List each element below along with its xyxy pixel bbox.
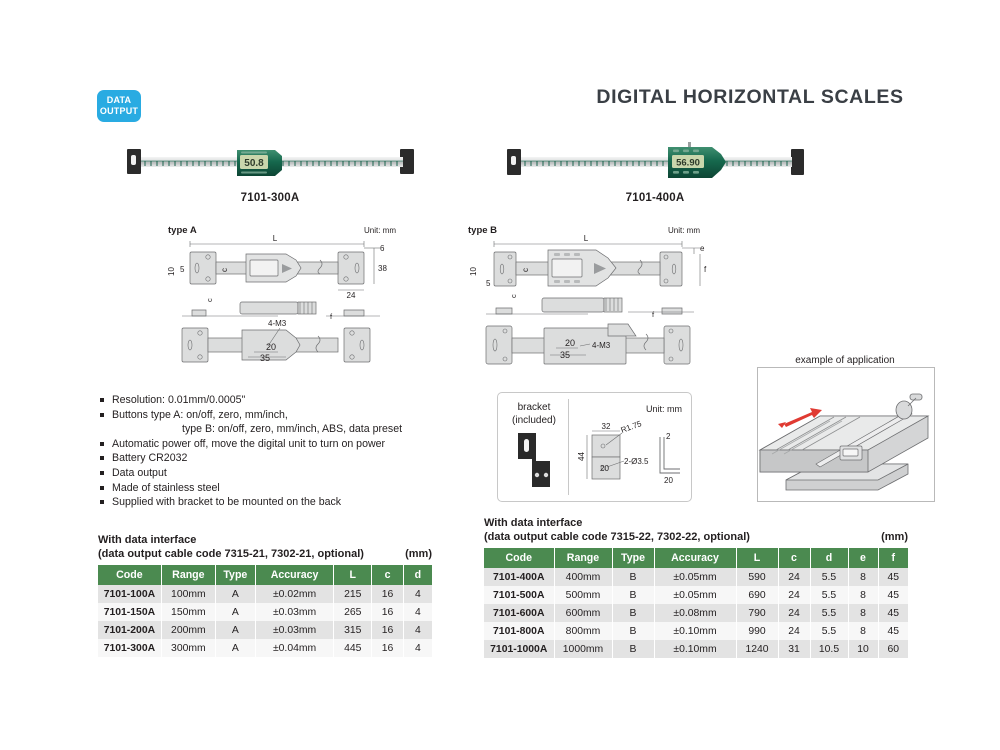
cell-l: 990	[736, 622, 778, 640]
cell-d: 4	[403, 639, 432, 657]
table-b-col-f: f	[878, 548, 908, 568]
cell-accuracy: ±0.05mm	[654, 586, 736, 604]
feature-item: Resolution: 0.01mm/0.0005"	[98, 393, 438, 408]
product-image-300a: 50.8 7101-300A	[125, 140, 415, 210]
bracket-label-line1: bracket	[502, 402, 566, 415]
table-a-col-range: Range	[161, 565, 215, 585]
table-a-unit-tag: (mm)	[405, 547, 432, 561]
table-b-col-d: d	[810, 548, 848, 568]
cell-range: 300mm	[161, 639, 215, 657]
table-row: 7101-500A 500mm B ±0.05mm 690 24 5.5 8 4…	[484, 586, 908, 604]
cell-e: 10	[848, 640, 878, 658]
table-a-col-code: Code	[98, 565, 161, 585]
cell-accuracy: ±0.04mm	[255, 639, 334, 657]
table-row: 7101-150A 150mm A ±0.03mm 265 16 4	[98, 603, 432, 621]
svg-text:56.90: 56.90	[676, 158, 700, 169]
table-a-heading-2: (data output cable code 7315-21, 7302-21…	[98, 548, 364, 560]
cell-range: 100mm	[161, 585, 215, 603]
svg-text:20: 20	[266, 342, 276, 352]
cell-f: 45	[878, 604, 908, 622]
table-row: 7101-300A 300mm A ±0.04mm 445 16 4	[98, 639, 432, 657]
cell-type: B	[612, 586, 654, 604]
cell-code: 7101-600A	[484, 604, 554, 622]
bracket-photo	[512, 431, 556, 489]
cell-l: 215	[334, 585, 372, 603]
svg-text:c: c	[521, 268, 530, 272]
cell-d: 4	[403, 603, 432, 621]
cell-e: 8	[848, 622, 878, 640]
svg-text:c: c	[205, 298, 214, 302]
table-row: 7101-600A 600mm B ±0.08mm 790 24 5.5 8 4…	[484, 604, 908, 622]
svg-text:6: 6	[380, 244, 385, 253]
table-b-header-row: Code Range Type Accuracy L c d e f	[484, 548, 908, 568]
svg-text:38: 38	[378, 264, 387, 273]
type-b-label: type B	[468, 225, 497, 236]
table-a-col-c: c	[372, 565, 404, 585]
cell-f: 60	[878, 640, 908, 658]
svg-text:f: f	[704, 265, 707, 274]
application-illustration	[758, 368, 934, 501]
badge-line-1: DATA	[107, 95, 131, 106]
catalog-page: DATA OUTPUT DIGITAL HORIZONTAL SCALES	[0, 0, 1000, 750]
table-b-col-code: Code	[484, 548, 554, 568]
application-panel	[757, 367, 935, 502]
table-b-heading-2-row: (data output cable code 7315-22, 7302-22…	[484, 530, 908, 544]
svg-text:Unit: mm: Unit: mm	[668, 226, 700, 235]
svg-text:4-M3: 4-M3	[268, 319, 287, 328]
type-a-label: type A	[168, 225, 197, 236]
feature-item: Buttons type A: on/off, zero, mm/inch,	[98, 408, 438, 423]
cell-range: 500mm	[554, 586, 612, 604]
svg-text:L: L	[584, 234, 589, 243]
feature-item: Data output	[98, 466, 438, 481]
cell-e: 8	[848, 604, 878, 622]
bracket-dim-holes: 2-Ø3.5	[624, 457, 649, 466]
svg-text:5: 5	[180, 265, 185, 274]
cell-f: 45	[878, 622, 908, 640]
table-row: 7101-400A 400mm B ±0.05mm 590 24 5.5 8 4…	[484, 568, 908, 586]
cell-d: 5.5	[810, 622, 848, 640]
table-b-col-e: e	[848, 548, 878, 568]
table-a-col-accuracy: Accuracy	[255, 565, 334, 585]
cell-c: 31	[778, 640, 810, 658]
cell-c: 16	[372, 621, 404, 639]
svg-text:35: 35	[560, 350, 570, 360]
table-row: 7101-100A 100mm A ±0.02mm 215 16 4	[98, 585, 432, 603]
cell-code: 7101-400A	[484, 568, 554, 586]
cell-range: 400mm	[554, 568, 612, 586]
cell-c: 24	[778, 604, 810, 622]
svg-text:10: 10	[469, 267, 478, 276]
table-type-b: Code Range Type Accuracy L c d e f 7101-…	[484, 548, 908, 658]
cell-code: 7101-800A	[484, 622, 554, 640]
bracket-label-line2: (included)	[502, 415, 566, 428]
badge-line-2: OUTPUT	[100, 106, 138, 117]
bracket-panel: bracket (included) Unit: mm	[497, 392, 692, 502]
cell-code: 7101-1000A	[484, 640, 554, 658]
table-type-a-wrapper: With data interface (data output cable c…	[98, 533, 432, 657]
table-b-col-l: L	[736, 548, 778, 568]
cell-code: 7101-300A	[98, 639, 161, 657]
cell-range: 600mm	[554, 604, 612, 622]
drawing-type-a: type A Unit: mm L	[168, 224, 418, 374]
cell-l: 1240	[736, 640, 778, 658]
application-caption: example of application	[757, 355, 933, 366]
svg-text:4-M3: 4-M3	[592, 341, 611, 350]
svg-text:24: 24	[347, 291, 356, 300]
cell-l: 315	[334, 621, 372, 639]
table-row: 7101-200A 200mm A ±0.03mm 315 16 4	[98, 621, 432, 639]
cell-c: 16	[372, 639, 404, 657]
svg-text:c: c	[220, 268, 229, 272]
cell-type: B	[612, 604, 654, 622]
table-b-col-range: Range	[554, 548, 612, 568]
cell-d: 4	[403, 585, 432, 603]
bracket-dimension-drawing: 32 44 R1.75 2-Ø3.5 20 2 20	[576, 419, 688, 497]
cell-type: B	[612, 640, 654, 658]
cell-c: 16	[372, 585, 404, 603]
table-b-col-accuracy: Accuracy	[654, 548, 736, 568]
table-a-heading-1: With data interface	[98, 533, 432, 547]
bracket-label: bracket (included)	[502, 402, 566, 427]
feature-sub-item: type B: on/off, zero, mm/inch, ABS, data…	[98, 422, 438, 437]
cell-d: 5.5	[810, 604, 848, 622]
feature-item: Made of stainless steel	[98, 481, 438, 496]
bracket-dim-44: 44	[577, 452, 586, 461]
svg-text:L: L	[273, 234, 278, 243]
cell-range: 800mm	[554, 622, 612, 640]
feature-item: Battery CR2032	[98, 451, 438, 466]
cell-type: A	[215, 639, 255, 657]
drawing-type-b: type B Unit: mm L	[468, 224, 723, 374]
cell-accuracy: ±0.08mm	[654, 604, 736, 622]
cell-code: 7101-200A	[98, 621, 161, 639]
cell-d: 10.5	[810, 640, 848, 658]
cell-code: 7101-500A	[484, 586, 554, 604]
cell-type: A	[215, 585, 255, 603]
table-a-col-l: L	[334, 565, 372, 585]
scale-illustration-b: 56.90	[505, 140, 805, 190]
page-title: DIGITAL HORIZONTAL SCALES	[560, 86, 940, 109]
svg-text:10: 10	[168, 267, 176, 276]
cell-accuracy: ±0.03mm	[255, 603, 334, 621]
feature-list: Resolution: 0.01mm/0.0005" Buttons type …	[98, 393, 438, 510]
table-type-a: Code Range Type Accuracy L c d 7101-100A…	[98, 565, 432, 657]
table-b-heading-1: With data interface	[484, 516, 908, 530]
product-caption-400a: 7101-400A	[505, 192, 805, 204]
cell-c: 16	[372, 603, 404, 621]
table-a-header-row: Code Range Type Accuracy L c d	[98, 565, 432, 585]
cell-l: 445	[334, 639, 372, 657]
cell-type: A	[215, 621, 255, 639]
cell-type: B	[612, 622, 654, 640]
cell-accuracy: ±0.05mm	[654, 568, 736, 586]
cell-c: 24	[778, 568, 810, 586]
table-b-col-type: Type	[612, 548, 654, 568]
cell-range: 1000mm	[554, 640, 612, 658]
table-a-col-type: Type	[215, 565, 255, 585]
feature-item: Automatic power off, move the digital un…	[98, 437, 438, 452]
cell-f: 45	[878, 568, 908, 586]
cell-range: 150mm	[161, 603, 215, 621]
bracket-dim-32: 32	[602, 422, 611, 431]
table-type-b-wrapper: With data interface (data output cable c…	[484, 516, 908, 658]
table-b-col-c: c	[778, 548, 810, 568]
svg-text:f: f	[330, 312, 333, 321]
bracket-panel-divider	[568, 399, 569, 495]
svg-text:35: 35	[260, 353, 270, 363]
cell-e: 8	[848, 586, 878, 604]
cell-range: 200mm	[161, 621, 215, 639]
bracket-dim-thickness: 2	[666, 432, 671, 441]
bracket-dim-r175: R1.75	[620, 419, 644, 435]
cell-l: 790	[736, 604, 778, 622]
cell-f: 45	[878, 586, 908, 604]
scale-illustration-a: 50.8	[125, 140, 415, 190]
svg-text:f: f	[652, 310, 655, 319]
svg-text:5: 5	[486, 279, 491, 288]
cell-d: 5.5	[810, 568, 848, 586]
type-b-svg: type B Unit: mm L	[468, 224, 723, 374]
cell-d: 5.5	[810, 586, 848, 604]
cell-l: 265	[334, 603, 372, 621]
cell-code: 7101-150A	[98, 603, 161, 621]
cell-c: 24	[778, 586, 810, 604]
bracket-unit-label: Unit: mm	[646, 404, 682, 414]
table-row: 7101-1000A 1000mm B ±0.10mm 1240 31 10.5…	[484, 640, 908, 658]
cell-accuracy: ±0.03mm	[255, 621, 334, 639]
cell-accuracy: ±0.10mm	[654, 622, 736, 640]
feature-item: Supplied with bracket to be mounted on t…	[98, 495, 438, 510]
bracket-dim-depth: 20	[664, 476, 673, 485]
cell-l: 690	[736, 586, 778, 604]
cell-type: B	[612, 568, 654, 586]
svg-text:50.8: 50.8	[244, 158, 264, 169]
table-row: 7101-800A 800mm B ±0.10mm 990 24 5.5 8 4…	[484, 622, 908, 640]
table-a-col-d: d	[403, 565, 432, 585]
svg-text:e: e	[700, 244, 705, 253]
cell-accuracy: ±0.10mm	[654, 640, 736, 658]
cell-accuracy: ±0.02mm	[255, 585, 334, 603]
product-image-400a: 56.90 7101-400A	[505, 140, 805, 210]
svg-text:Unit: mm: Unit: mm	[364, 226, 396, 235]
cell-c: 24	[778, 622, 810, 640]
cell-d: 4	[403, 621, 432, 639]
svg-text:c: c	[509, 294, 518, 298]
table-b-unit-tag: (mm)	[881, 530, 908, 544]
table-b-heading-2: (data output cable code 7315-22, 7302-22…	[484, 531, 750, 543]
table-a-heading-2-row: (data output cable code 7315-21, 7302-21…	[98, 547, 432, 561]
product-caption-300a: 7101-300A	[125, 192, 415, 204]
cell-e: 8	[848, 568, 878, 586]
cell-type: A	[215, 603, 255, 621]
cell-l: 590	[736, 568, 778, 586]
cell-code: 7101-100A	[98, 585, 161, 603]
type-a-svg: type A Unit: mm L	[168, 224, 418, 374]
bracket-dim-20: 20	[600, 464, 609, 473]
svg-text:20: 20	[565, 338, 575, 348]
data-output-badge: DATA OUTPUT	[97, 90, 141, 122]
